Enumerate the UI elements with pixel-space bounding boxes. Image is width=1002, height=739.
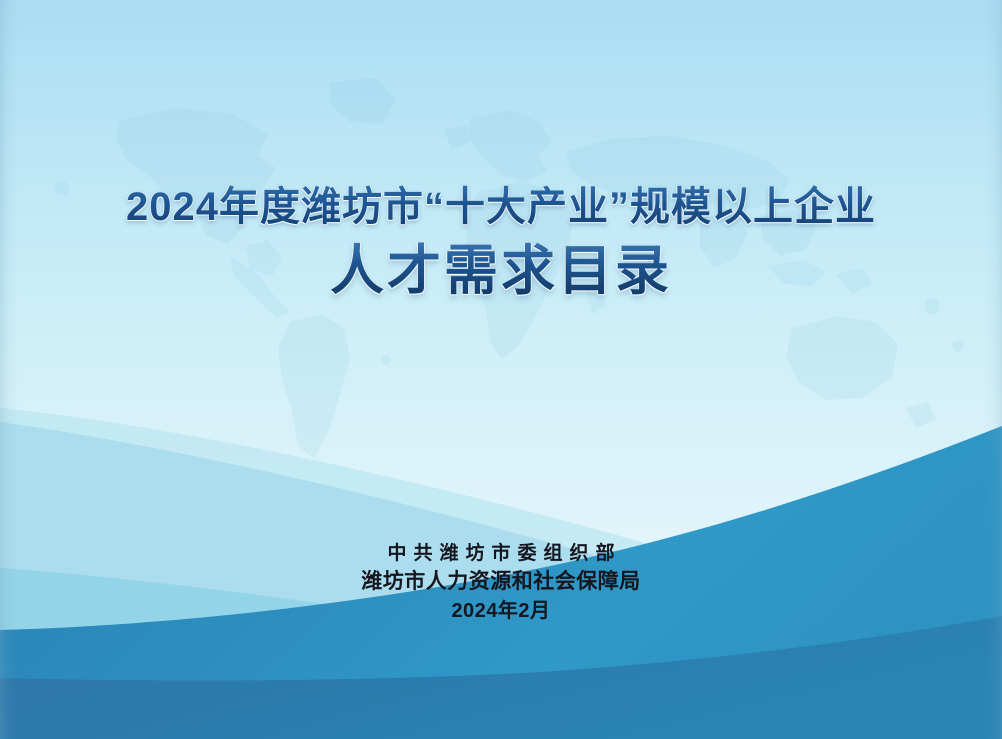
wave-layer-mid	[0, 330, 1002, 739]
wave-layer-light	[0, 330, 1002, 739]
world-map-watermark	[0, 60, 1002, 500]
edge-vignette	[0, 0, 1002, 739]
title-line-primary: 2024年度潍坊市“十大产业”规模以上企业	[0, 182, 1002, 232]
issuer-bureau: 潍坊市人力资源和社会保障局	[0, 567, 1002, 596]
wave-layer-pale	[0, 330, 1002, 739]
issuer-date: 2024年2月	[0, 596, 1002, 626]
wave-layer-deep	[0, 330, 1002, 739]
issuer-organization: 中共潍坊市委组织部	[0, 540, 1002, 567]
wave-layer-accent	[0, 330, 1002, 739]
title-line-secondary: 人才需求目录	[0, 240, 1002, 302]
cover-slide: 2024年度潍坊市“十大产业”规模以上企业 人才需求目录 中共潍坊市委组织部 潍…	[0, 0, 1002, 739]
page-title: 2024年度潍坊市“十大产业”规模以上企业 人才需求目录	[0, 182, 1002, 302]
issuer-block: 中共潍坊市委组织部 潍坊市人力资源和社会保障局 2024年2月	[0, 540, 1002, 626]
